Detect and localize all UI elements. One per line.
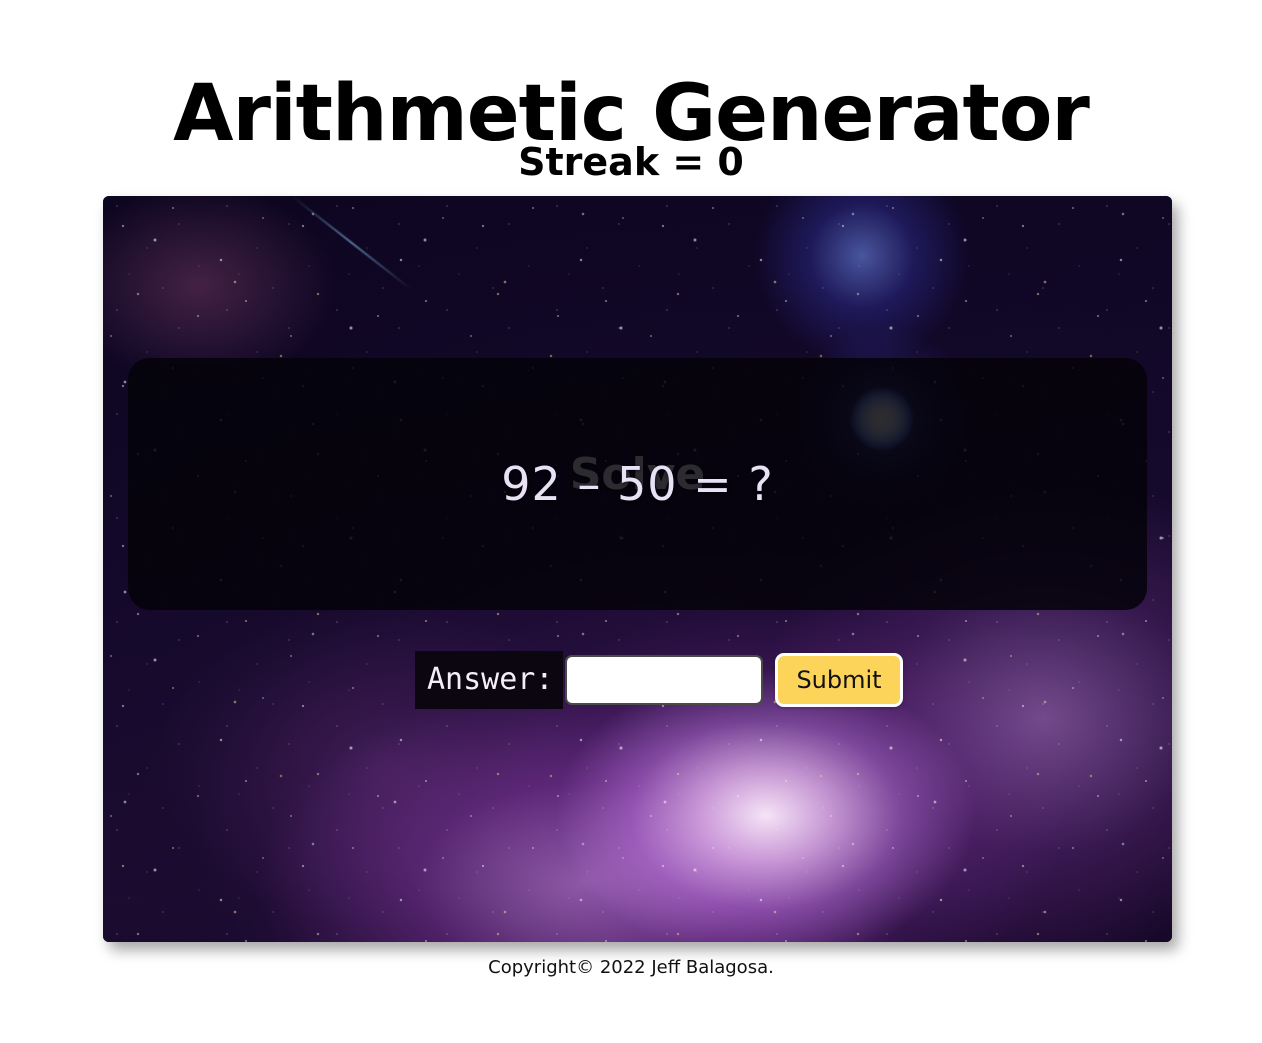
answer-row: Answer: Submit bbox=[415, 651, 875, 709]
footer-copyright: Copyright© 2022 Jeff Balagosa. bbox=[0, 955, 1262, 981]
page-root: Arithmetic Generator Streak = 0 Solve 92… bbox=[0, 0, 1262, 1043]
problem-expression: 92 – 50 = ? bbox=[501, 456, 774, 512]
submit-button[interactable]: Submit bbox=[775, 653, 902, 707]
problem-panel: 92 – 50 = ? bbox=[128, 358, 1147, 610]
streak-counter: Streak = 0 bbox=[0, 138, 1262, 186]
answer-input[interactable] bbox=[565, 655, 763, 705]
quiz-card-content: Solve 92 – 50 = ? Answer: Submit bbox=[103, 196, 1172, 942]
answer-label: Answer: bbox=[415, 651, 563, 709]
quiz-card: Solve 92 – 50 = ? Answer: Submit bbox=[103, 196, 1172, 942]
